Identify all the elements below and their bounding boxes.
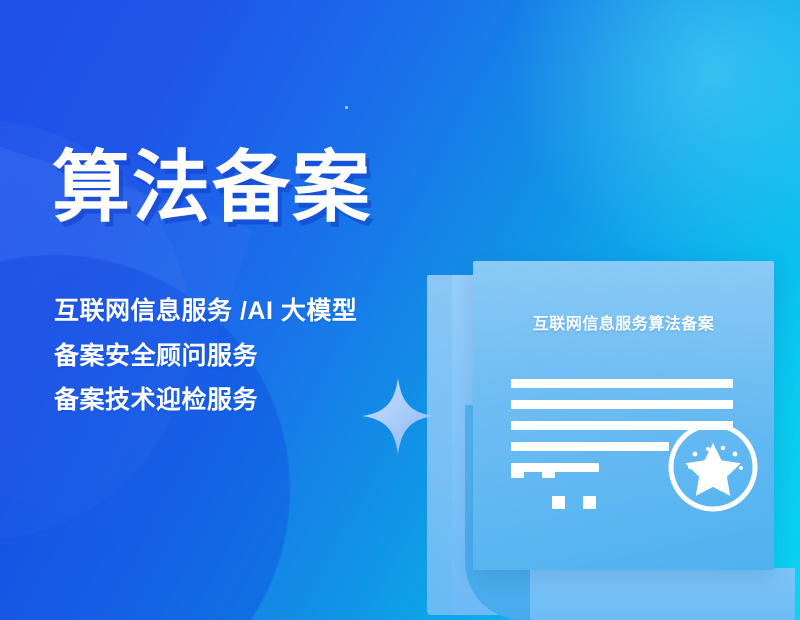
star-seal-icon [665,419,761,515]
doc-square [542,465,555,478]
doc-text-line [511,379,733,388]
top-right-glow [500,0,800,280]
card-under-band [530,568,795,620]
page-title: 算法备案 [52,148,372,226]
service-line-3: 备案技术迎检服务 [54,385,357,416]
certificate-card: 互联网信息服务算法备案 [473,261,774,570]
doc-square [511,465,524,478]
service-list: 互联网信息服务 /AI 大模型 备案安全顾问服务 备案技术迎检服务 [54,296,357,416]
small-dot-icon [345,106,348,109]
doc-square [583,496,596,509]
algorithm-filing-banner: 算法备案 互联网信息服务 /AI 大模型 备案安全顾问服务 备案技术迎检服务 互… [0,0,800,620]
doc-square [552,496,565,509]
certificate-title: 互联网信息服务算法备案 [473,310,774,334]
doc-text-line [511,442,669,451]
certificate-card-stack: 互联网信息服务算法备案 [420,255,800,620]
doc-text-line [511,400,733,409]
service-line-1: 互联网信息服务 /AI 大模型 [54,296,357,327]
service-line-2: 备案安全顾问服务 [54,341,357,372]
